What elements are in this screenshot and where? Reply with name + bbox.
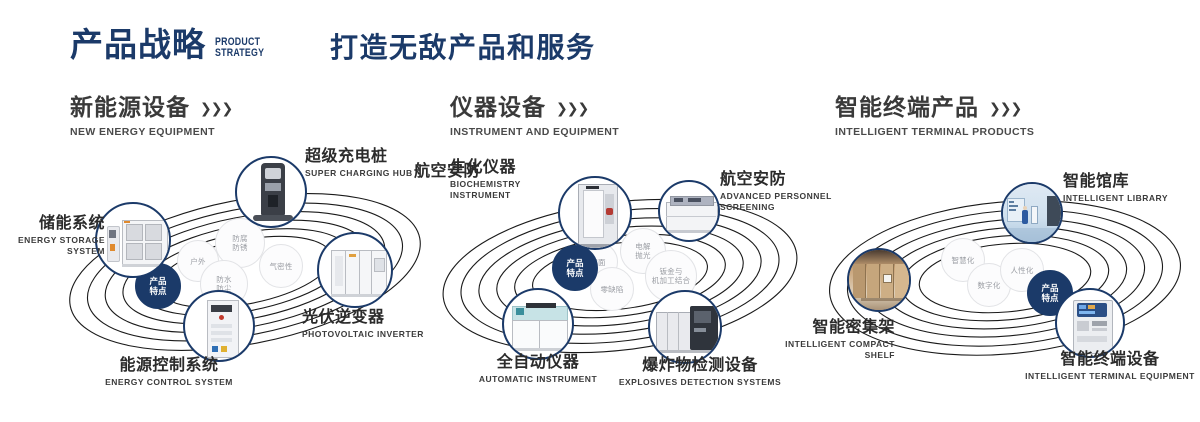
terminal-kiosk-icon	[1057, 290, 1123, 356]
section-title-en: INTELLIGENT TERMINAL PRODUCTS	[835, 126, 1034, 138]
page-title-cn: 产品战略	[70, 28, 206, 61]
label-en: EXPLOSIVES DETECTION SYSTEMS	[605, 377, 795, 388]
node-smart-library[interactable]	[1001, 182, 1063, 244]
section-title-en: INSTRUMENT AND EQUIPMENT	[450, 126, 619, 138]
node-explosives-detection[interactable]	[648, 290, 722, 364]
chevron-right-icon: ❯❯❯	[556, 101, 588, 115]
label-cn: 全自动仪器	[443, 355, 633, 372]
label-cn: 储能系统	[5, 216, 105, 233]
node-terminal-equipment[interactable]	[1055, 288, 1125, 358]
pv-inverter-cabinet-icon	[319, 234, 391, 306]
cluster-new-energy: 户外 防腐 防锈 防水 防尘 气密性 产品 特点 储能系统 ENERGY STO…	[55, 150, 435, 395]
label-en: ENERGY CONTROL SYSTEM	[79, 377, 259, 388]
label-terminal-equipment: 智能终端设备 INTELLIGENT TERMINAL EQUIPMENT	[1005, 352, 1200, 382]
label-compact-shelf: 智能密集架 INTELLIGENT COMPACT SHELF	[735, 320, 895, 361]
center-bubble-product-features: 产品 特点	[552, 245, 598, 291]
page-subtitle: 打造无敌产品和服务	[330, 33, 596, 64]
section-title-cn: 智能终端产品	[835, 96, 979, 119]
label-energy-control: 能源控制系统 ENERGY CONTROL SYSTEM	[79, 358, 259, 388]
section-title-instrument: 仪器设备 ❯❯❯ INSTRUMENT AND EQUIPMENT	[450, 96, 619, 138]
charging-pile-icon	[237, 158, 305, 226]
node-compact-shelf[interactable]	[847, 248, 911, 312]
section-title-cn: 新能源设备	[70, 96, 190, 119]
product-strategy-infographic: 产品战略 PRODUCT STRATEGY 打造无敌产品和服务 新能源设备 ❯❯…	[0, 0, 1200, 422]
page-title-en: PRODUCT STRATEGY	[215, 37, 264, 59]
label-en: PHOTOVOLTAIC INVERTER	[302, 329, 442, 340]
smart-library-icon	[1003, 184, 1061, 242]
label-explosives-detection: 爆炸物检测设备 EXPLOSIVES DETECTION SYSTEMS	[605, 358, 795, 388]
node-energy-control[interactable]	[183, 290, 255, 362]
page-title: 产品战略 PRODUCT STRATEGY	[70, 28, 276, 61]
label-cn: 智能馆库	[1063, 174, 1200, 191]
label-en: INTELLIGENT TERMINAL EQUIPMENT	[1005, 371, 1200, 382]
label-cn: 光伏逆变器	[302, 310, 442, 327]
label-en: ENERGY STORAGE SYSTEM	[5, 235, 105, 257]
node-advanced-personnel-screening[interactable]	[658, 180, 720, 242]
node-automatic-instrument[interactable]	[502, 288, 574, 360]
node-energy-storage[interactable]	[95, 202, 171, 278]
label-cn: 智能终端设备	[1005, 352, 1200, 369]
label-pv-inverter: 光伏逆变器 PHOTOVOLTAIC INVERTER	[302, 310, 442, 340]
label-cn: 生化仪器	[450, 160, 580, 177]
node-pv-inverter[interactable]	[317, 232, 393, 308]
section-title-intelligent-terminal: 智能终端产品 ❯❯❯ INTELLIGENT TERMINAL PRODUCTS	[835, 96, 1034, 138]
label-energy-storage: 储能系统 ENERGY STORAGE SYSTEM	[5, 216, 105, 257]
compact-shelf-icon	[849, 250, 909, 310]
screening-machine-icon	[660, 182, 718, 240]
automatic-instrument-icon	[504, 290, 572, 358]
feature-bubble: 气密性	[259, 244, 303, 288]
label-en: INTELLIGENT COMPACT SHELF	[735, 339, 895, 361]
section-title-new-energy: 新能源设备 ❯❯❯ NEW ENERGY EQUIPMENT	[70, 96, 232, 138]
node-charging-hub[interactable]	[235, 156, 307, 228]
cluster-intelligent-terminal: 智慧化 数字化 人性化 产品 特点 智能馆库 INTELLIGENT LIBRA…	[815, 150, 1195, 395]
label-biochemistry-instrument: 生化仪器 BIOCHEMISTRY INSTRUMENT	[450, 160, 580, 201]
chevron-right-icon: ❯❯❯	[989, 101, 1021, 115]
label-cn: 能源控制系统	[79, 358, 259, 375]
label-cn: 智能密集架	[735, 320, 895, 337]
label-automatic-instrument: 全自动仪器 AUTOMATIC INSTRUMENT	[443, 355, 633, 385]
control-cabinet-icon	[185, 292, 253, 360]
explosives-detector-icon	[650, 292, 720, 362]
label-en: AUTOMATIC INSTRUMENT	[443, 374, 633, 385]
chevron-right-icon: ❯❯❯	[200, 101, 232, 115]
label-en: INTELLIGENT LIBRARY	[1063, 193, 1200, 204]
label-en: BIOCHEMISTRY INSTRUMENT	[450, 179, 580, 201]
label-smart-library: 智能馆库 INTELLIGENT LIBRARY	[1063, 174, 1200, 204]
energy-storage-cabinet-icon	[97, 204, 169, 276]
section-title-cn: 仪器设备	[450, 96, 546, 119]
section-title-en: NEW ENERGY EQUIPMENT	[70, 126, 232, 138]
